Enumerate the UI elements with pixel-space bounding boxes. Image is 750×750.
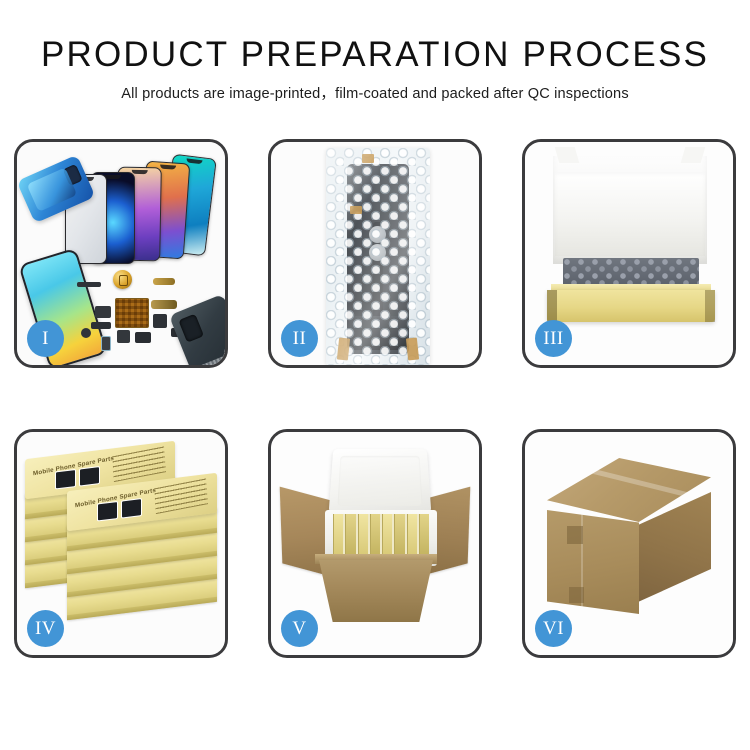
box-spec-lines xyxy=(154,478,208,514)
yellow-box-front xyxy=(547,290,715,322)
step-badge-2: II xyxy=(281,320,318,357)
camera-module-icon xyxy=(63,164,83,186)
yellow-box xyxy=(394,514,404,556)
carton-body xyxy=(319,560,433,622)
box-spec-lines xyxy=(112,446,166,482)
bubble-wrap-bag xyxy=(326,148,430,365)
step-badge-5: V xyxy=(281,610,318,647)
yellow-box xyxy=(345,514,355,556)
rear-camera-icon xyxy=(178,314,204,343)
step-badge-4: IV xyxy=(27,610,64,647)
box-art-screen xyxy=(97,501,118,522)
header: PRODUCT PREPARATION PROCESS All products… xyxy=(0,34,750,103)
foam-sheet xyxy=(555,172,705,256)
part-sim-tray xyxy=(101,336,111,351)
page-subtitle: All products are image-printed，film-coat… xyxy=(0,82,750,103)
part-module xyxy=(95,306,111,318)
yellow-box xyxy=(419,514,429,556)
part-flex-cable xyxy=(77,282,101,287)
step-panel-1: I xyxy=(14,139,228,368)
yellow-box xyxy=(358,514,368,556)
battery-label xyxy=(198,351,225,365)
step-badge-6: VI xyxy=(535,610,572,647)
packed-yellow-boxes xyxy=(333,514,429,556)
part-gold-connector xyxy=(153,278,175,285)
notch-icon xyxy=(132,170,148,174)
step-panel-3: III xyxy=(522,139,736,368)
box-art-screen xyxy=(55,469,76,490)
yellow-box xyxy=(333,514,343,556)
process-steps-grid: I xyxy=(14,139,736,658)
carton-handle-tab xyxy=(567,526,583,544)
part-button xyxy=(117,330,130,343)
phone-back-housing xyxy=(169,294,225,365)
plastic-sheen xyxy=(326,148,430,365)
part-bracket xyxy=(91,322,111,329)
part-gold-flex xyxy=(151,300,177,309)
page-title: PRODUCT PREPARATION PROCESS xyxy=(0,34,750,76)
yellow-box xyxy=(370,514,380,556)
product-preparation-infographic: PRODUCT PREPARATION PROCESS All products… xyxy=(0,0,750,750)
part-vibrator xyxy=(135,332,151,343)
step-badge-3: III xyxy=(535,320,572,357)
speaker-module-icon xyxy=(113,270,132,289)
box-art-screen xyxy=(121,498,142,519)
step-badge-1: I xyxy=(27,320,64,357)
carton-handle-tab xyxy=(569,587,584,603)
box-art-screen xyxy=(79,466,100,487)
notch-icon xyxy=(160,165,176,170)
part-chip xyxy=(153,314,167,328)
step-panel-5: V xyxy=(268,429,482,658)
spare-parts-cluster xyxy=(77,270,225,362)
step-panel-4: Mobile Phone Spare Parts Mobile Phone Sp… xyxy=(14,429,228,658)
step-panel-2: II xyxy=(268,139,482,368)
part-home-button xyxy=(81,328,91,338)
notch-icon xyxy=(186,158,202,164)
carton-front-face xyxy=(547,510,639,614)
foam-box-lid xyxy=(329,449,432,515)
box-edge xyxy=(67,597,217,620)
yellow-box xyxy=(407,514,417,556)
yellow-box xyxy=(382,514,392,556)
step-panel-6: VI xyxy=(522,429,736,658)
screw-tray-icon xyxy=(115,298,149,328)
notch-icon xyxy=(105,175,121,179)
